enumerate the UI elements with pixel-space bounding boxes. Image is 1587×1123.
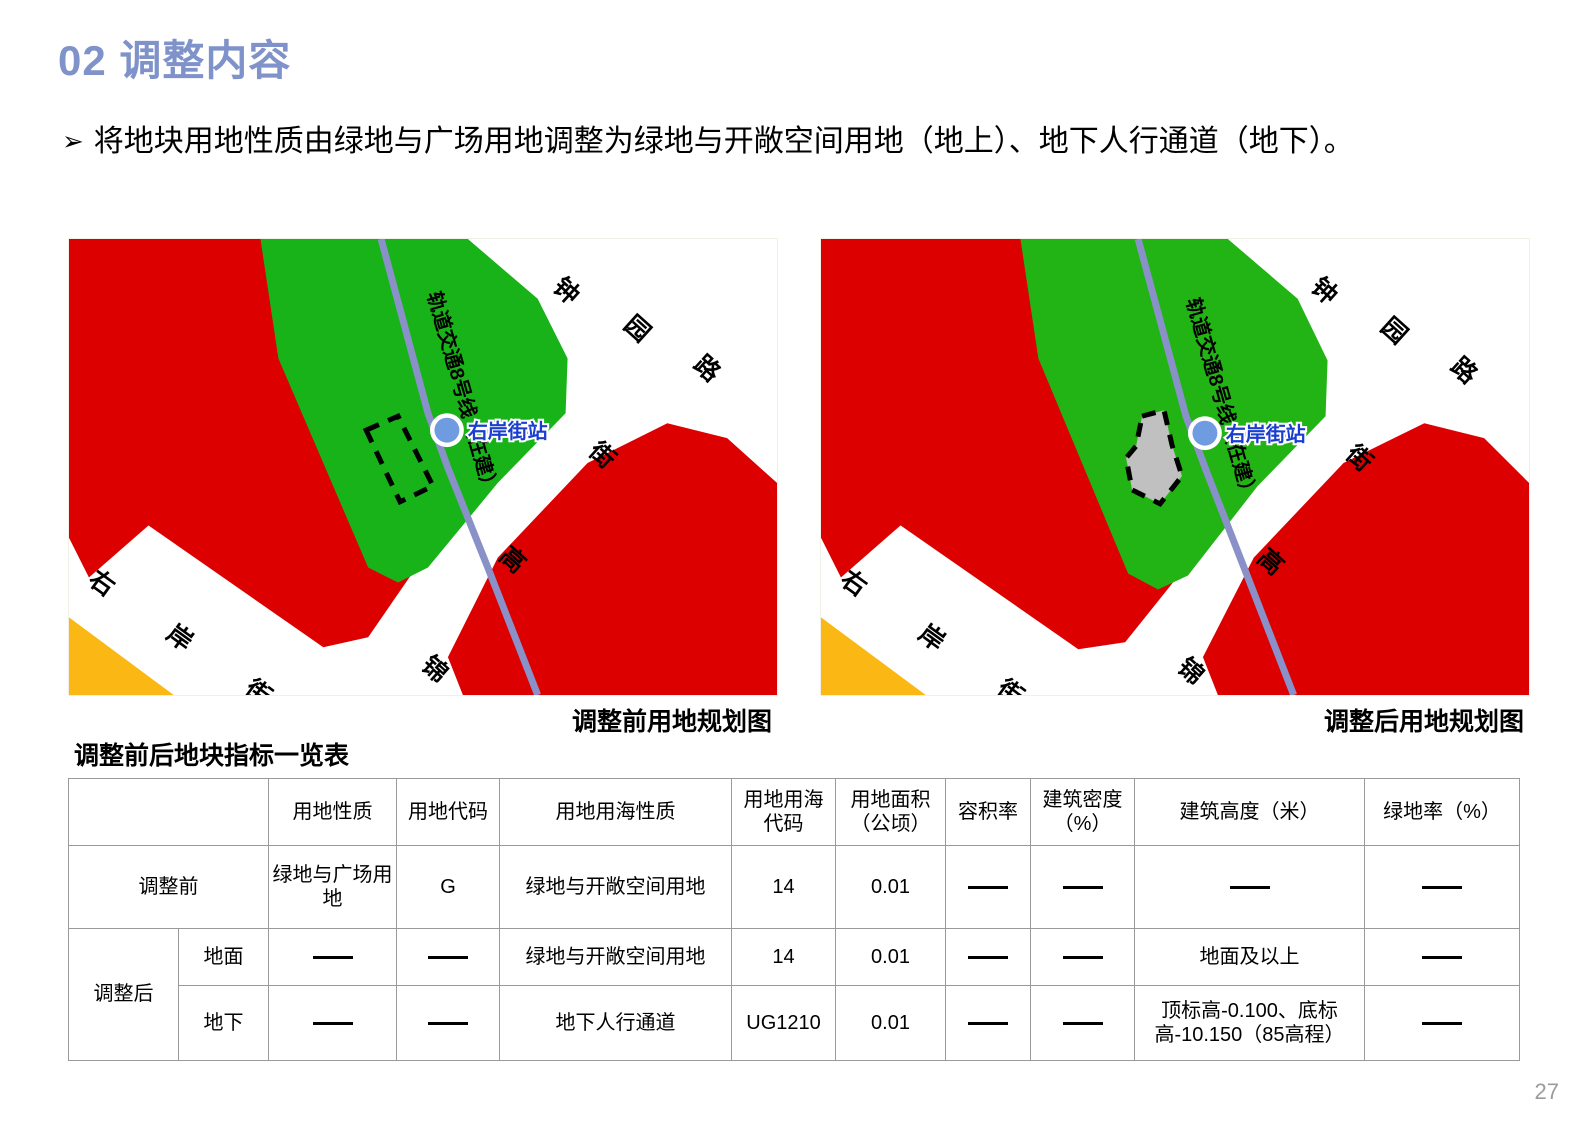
cell-density [1031, 846, 1135, 929]
cell-green-rate [1365, 986, 1520, 1061]
cell-area: 0.01 [836, 846, 946, 929]
th-density-l1: 建筑密度 [1034, 788, 1131, 812]
th-corner [69, 779, 269, 846]
map-before[interactable]: 轨道交通8号线（在建） 右岸街站 钟 园 路 街 高 锦 右 岸 街 [68, 238, 778, 696]
cell-sea-use-nature: 绿地与开敞空间用地 [500, 929, 732, 986]
cell-sea-use-code: 14 [732, 929, 836, 986]
dash-mark [968, 886, 1008, 889]
dash-mark [1422, 1022, 1462, 1025]
cell-height [1135, 846, 1365, 929]
bullet-row: ➢ 将地块用地性质由绿地与广场用地调整为绿地与开敞空间用地（地上）、地下人行通道… [62, 122, 1542, 162]
page-title: 02 调整内容 [58, 27, 291, 88]
cell-use-code: G [397, 846, 500, 929]
table-header-row: 用地性质 用地代码 用地用海性质 用地用海 代码 用地面积 （公顷） 容积率 建… [69, 779, 1520, 846]
th-density: 建筑密度 （%） [1031, 779, 1135, 846]
th-use-nature: 用地性质 [269, 779, 397, 846]
cell-use-code [397, 986, 500, 1061]
indicators-table-wrap: 用地性质 用地代码 用地用海性质 用地用海 代码 用地面积 （公顷） 容积率 建… [68, 778, 1519, 1061]
map-before-svg: 轨道交通8号线（在建） 右岸街站 钟 园 路 街 高 锦 右 岸 街 [69, 239, 777, 695]
cell-green-rate [1365, 929, 1520, 986]
figure-before-caption: 调整前用地规划图 [68, 702, 778, 738]
indicators-table: 用地性质 用地代码 用地用海性质 用地用海 代码 用地面积 （公顷） 容积率 建… [68, 778, 1520, 1061]
map-after[interactable]: 轨道交通8号线（在建） 右岸街站 钟 园 路 街 高 锦 右 岸 街 [820, 238, 1530, 696]
dash-mark [1422, 886, 1462, 889]
cell-use-nature [269, 986, 397, 1061]
table-title: 调整前后地块指标一览表 [74, 736, 349, 772]
figure-after-caption: 调整后用地规划图 [820, 702, 1530, 738]
dash-mark [1063, 1022, 1103, 1025]
th-density-l2: （%） [1034, 812, 1131, 836]
th-green-rate: 绿地率（%） [1365, 779, 1520, 846]
dash-mark [428, 956, 468, 959]
dash-mark [968, 1022, 1008, 1025]
row-sub-underground: 地下 [179, 986, 269, 1061]
map-after-svg: 轨道交通8号线（在建） 右岸街站 钟 园 路 街 高 锦 右 岸 街 [821, 239, 1529, 695]
cell-green-rate [1365, 846, 1520, 929]
bullet-text: 将地块用地性质由绿地与广场用地调整为绿地与开敞空间用地（地上）、地下人行通道（地… [94, 122, 1354, 162]
cell-sea-use-code: UG1210 [732, 986, 836, 1061]
cell-height: 地面及以上 [1135, 929, 1365, 986]
station-name-label: 右岸街站 [1226, 422, 1306, 446]
th-sea-use-code-l1: 用地用海 [735, 788, 832, 812]
th-sea-use-code-l2: 代码 [735, 812, 832, 836]
dash-mark [1422, 956, 1462, 959]
cell-sea-use-code: 14 [732, 846, 836, 929]
figure-after: 轨道交通8号线（在建） 右岸街站 钟 园 路 街 高 锦 右 岸 街 调整后用地… [820, 238, 1530, 696]
row-group-before: 调整前 [69, 846, 269, 929]
th-area-l2: （公顷） [839, 812, 942, 836]
th-height: 建筑高度（米） [1135, 779, 1365, 846]
row-sub-ground: 地面 [179, 929, 269, 986]
dash-mark [1230, 886, 1270, 889]
th-area-l1: 用地面积 [839, 788, 942, 812]
cell-area: 0.01 [836, 929, 946, 986]
table-body: 调整前 绿地与广场用地 G 绿地与开敞空间用地 14 0.01 调整后 地面 [69, 846, 1520, 1061]
cell-far [946, 986, 1031, 1061]
dash-mark [313, 1022, 353, 1025]
row-group-after: 调整后 [69, 929, 179, 1061]
cell-use-nature [269, 929, 397, 986]
cell-height: 顶标高-0.100、底标高-10.150（85高程） [1135, 986, 1365, 1061]
th-use-code: 用地代码 [397, 779, 500, 846]
cell-density [1031, 929, 1135, 986]
table-row: 调整前 绿地与广场用地 G 绿地与开敞空间用地 14 0.01 [69, 846, 1520, 929]
dash-mark [1063, 956, 1103, 959]
slide-root: 02 调整内容 ➢ 将地块用地性质由绿地与广场用地调整为绿地与开敞空间用地（地上… [0, 0, 1587, 1123]
cell-use-nature: 绿地与广场用地 [269, 846, 397, 929]
cell-use-code [397, 929, 500, 986]
page-number: 27 [1535, 1079, 1559, 1105]
th-sea-use-code: 用地用海 代码 [732, 779, 836, 846]
dash-mark [1063, 886, 1103, 889]
cell-far [946, 846, 1031, 929]
th-area: 用地面积 （公顷） [836, 779, 946, 846]
table-row: 地下 地下人行通道 UG1210 0.01 顶标高-0.100、底标高-10.1… [69, 986, 1520, 1061]
station-dot [1192, 421, 1217, 446]
dash-mark [313, 956, 353, 959]
station-dot [434, 418, 459, 443]
dash-mark [428, 1022, 468, 1025]
table-row: 调整后 地面 绿地与开敞空间用地 14 0.01 地面及以上 [69, 929, 1520, 986]
station-name-label: 右岸街站 [468, 419, 548, 443]
bullet-arrow-icon: ➢ [62, 122, 84, 162]
th-far: 容积率 [946, 779, 1031, 846]
figure-before: 轨道交通8号线（在建） 右岸街站 钟 园 路 街 高 锦 右 岸 街 调整前用地… [68, 238, 778, 696]
cell-far [946, 929, 1031, 986]
cell-sea-use-nature: 地下人行通道 [500, 986, 732, 1061]
cell-area: 0.01 [836, 986, 946, 1061]
dash-mark [968, 956, 1008, 959]
cell-sea-use-nature: 绿地与开敞空间用地 [500, 846, 732, 929]
cell-density [1031, 986, 1135, 1061]
th-sea-use-nature: 用地用海性质 [500, 779, 732, 846]
table-head: 用地性质 用地代码 用地用海性质 用地用海 代码 用地面积 （公顷） 容积率 建… [69, 779, 1520, 846]
